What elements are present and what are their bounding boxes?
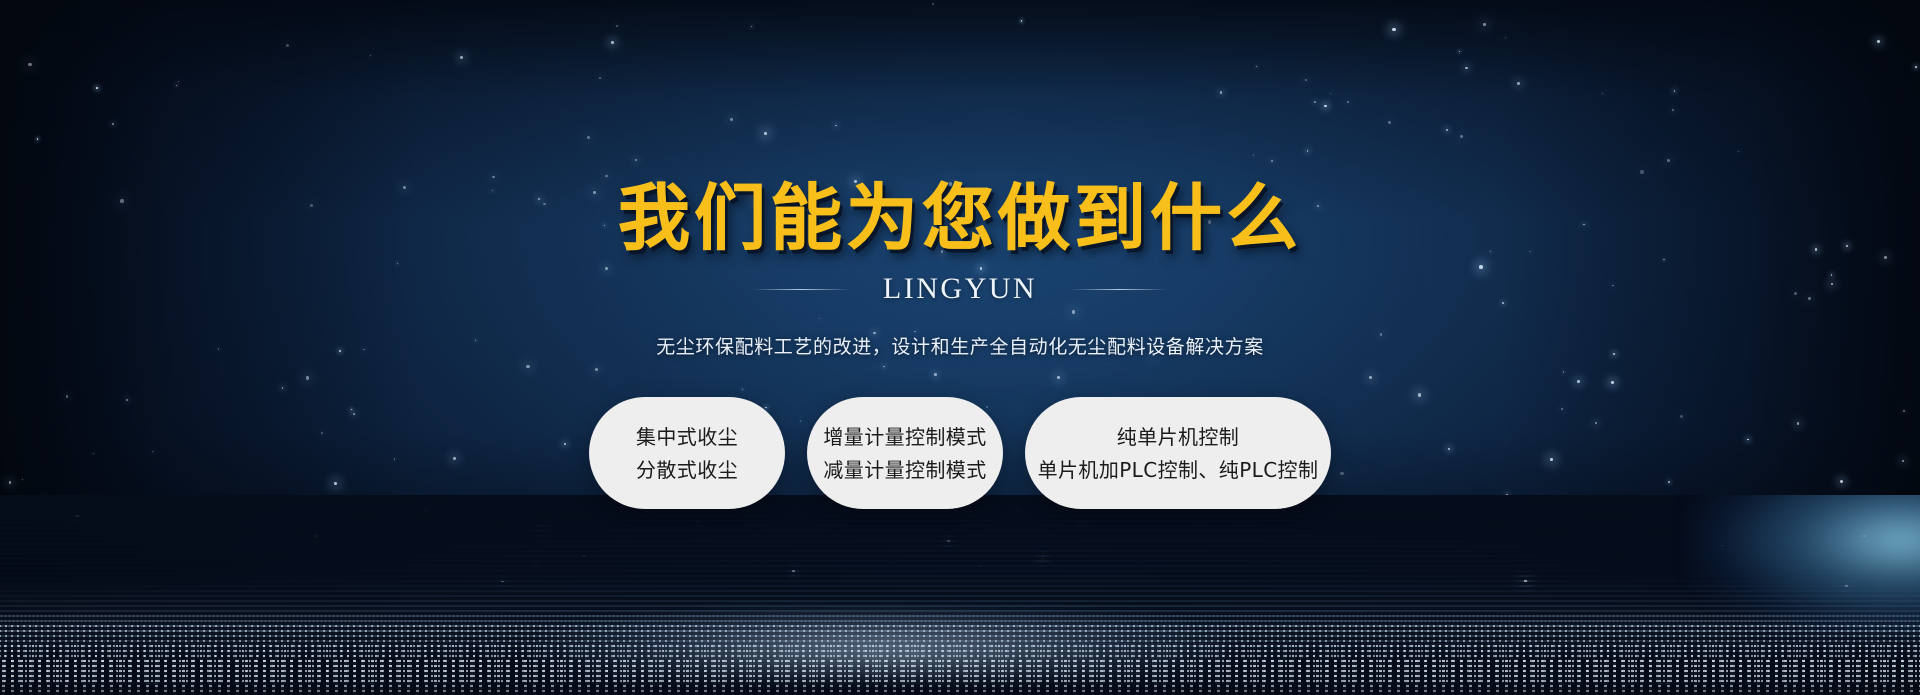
card-line-primary: 集中式收尘: [636, 426, 738, 448]
feature-card-metering-mode[interactable]: 增量计量控制模式 减量计量控制模式: [807, 397, 1003, 509]
card-line-secondary: 单片机加PLC控制、纯PLC控制: [1038, 459, 1319, 481]
feature-card-dust-collection[interactable]: 集中式收尘 分散式收尘: [589, 397, 785, 509]
banner-subtitle: 无尘环保配料工艺的改进，设计和生产全自动化无尘配料设备解决方案: [656, 332, 1264, 359]
brand-divider-row: LINGYUN: [753, 272, 1167, 306]
brand-name: LINGYUN: [883, 272, 1037, 306]
hero-banner: 我们能为您做到什么 LINGYUN 无尘环保配料工艺的改进，设计和生产全自动化无…: [0, 0, 1920, 695]
banner-content: 我们能为您做到什么 LINGYUN 无尘环保配料工艺的改进，设计和生产全自动化无…: [0, 0, 1920, 695]
feature-card-list: 集中式收尘 分散式收尘 增量计量控制模式 减量计量控制模式 纯单片机控制 单片机…: [589, 397, 1331, 509]
divider-right: [1071, 289, 1167, 290]
card-line-primary: 纯单片机控制: [1117, 426, 1239, 448]
page-title: 我们能为您做到什么: [618, 182, 1302, 254]
card-line-secondary: 分散式收尘: [636, 459, 738, 481]
card-line-primary: 增量计量控制模式: [823, 426, 986, 448]
card-line-secondary: 减量计量控制模式: [823, 459, 986, 481]
divider-left: [753, 289, 849, 290]
feature-card-control-system[interactable]: 纯单片机控制 单片机加PLC控制、纯PLC控制: [1025, 397, 1331, 509]
